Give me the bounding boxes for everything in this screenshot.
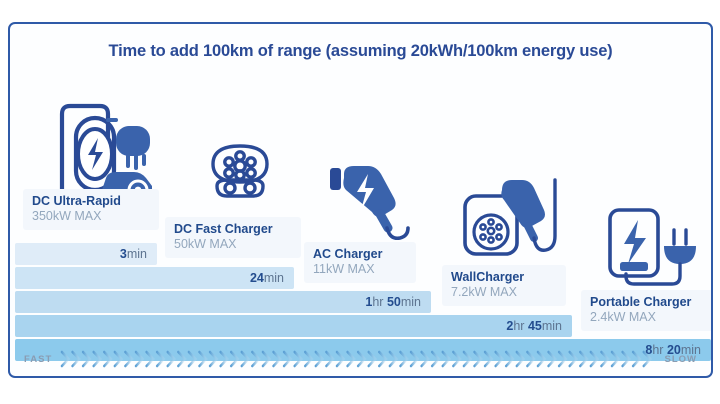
- charging-gun-icon: [324, 160, 410, 240]
- charger-name: DC Ultra-Rapid: [32, 194, 150, 209]
- time-bar-label: 1hr 50min: [365, 295, 421, 309]
- charger-max-power: 7.2kW MAX: [451, 285, 557, 300]
- speed-scale-strip: FAST SLOW: [10, 342, 711, 376]
- charger-name: Portable Charger: [590, 295, 708, 310]
- infographic-frame: Time to add 100km of range (assuming 20k…: [8, 22, 713, 378]
- charger-max-power: 350kW MAX: [32, 209, 150, 224]
- time-bar-ac-charger: 1hr 50min: [15, 291, 431, 313]
- time-bar-label: 2hr 45min: [506, 319, 562, 333]
- charger-card-ac-charger: AC Charger 11kW MAX: [304, 242, 416, 283]
- time-bar-minutes: 45: [528, 319, 542, 333]
- time-bar-dc-ultra-rapid: 3min: [15, 243, 157, 265]
- time-bar-hours-unit: hr: [372, 295, 383, 309]
- page-title: Time to add 100km of range (assuming 20k…: [10, 42, 711, 61]
- charger-max-power: 2.4kW MAX: [590, 310, 708, 325]
- time-bar-minutes-unit: min: [401, 295, 421, 309]
- charger-card-wallcharger: WallCharger 7.2kW MAX: [442, 265, 566, 306]
- wallbox-charger-icon: [460, 170, 560, 260]
- ccs-socket-icon: [207, 140, 273, 198]
- charger-card-dc-ultra-rapid: DC Ultra-Rapid 350kW MAX: [23, 189, 159, 230]
- charging-station-car-icon: [46, 98, 154, 196]
- time-bar-unit: min: [264, 271, 284, 285]
- portable-battery-plug-icon: [604, 206, 700, 294]
- time-bar-dc-fast-charger: 24min: [15, 267, 294, 289]
- slow-label: SLOW: [665, 354, 698, 365]
- time-bar-wallcharger: 2hr 45min: [15, 315, 572, 337]
- time-bar-minutes: 50: [387, 295, 401, 309]
- charger-name: WallCharger: [451, 270, 557, 285]
- fast-label: FAST: [24, 354, 52, 365]
- time-bar-hours-unit: hr: [513, 319, 524, 333]
- charger-card-portable-charger: Portable Charger 2.4kW MAX: [581, 290, 713, 331]
- chevron-arrows-icon: [60, 348, 656, 370]
- time-bar-value: 24: [250, 271, 264, 285]
- time-bar-label: 3min: [120, 247, 147, 261]
- time-bar-minutes-unit: min: [542, 319, 562, 333]
- charger-card-dc-fast-charger: DC Fast Charger 50kW MAX: [165, 217, 301, 258]
- charger-max-power: 50kW MAX: [174, 237, 292, 252]
- charger-name: DC Fast Charger: [174, 222, 292, 237]
- time-bar-unit: min: [127, 247, 147, 261]
- charger-name: AC Charger: [313, 247, 407, 262]
- time-bar-label: 24min: [250, 271, 284, 285]
- time-bar-value: 3: [120, 247, 127, 261]
- charger-max-power: 11kW MAX: [313, 262, 407, 277]
